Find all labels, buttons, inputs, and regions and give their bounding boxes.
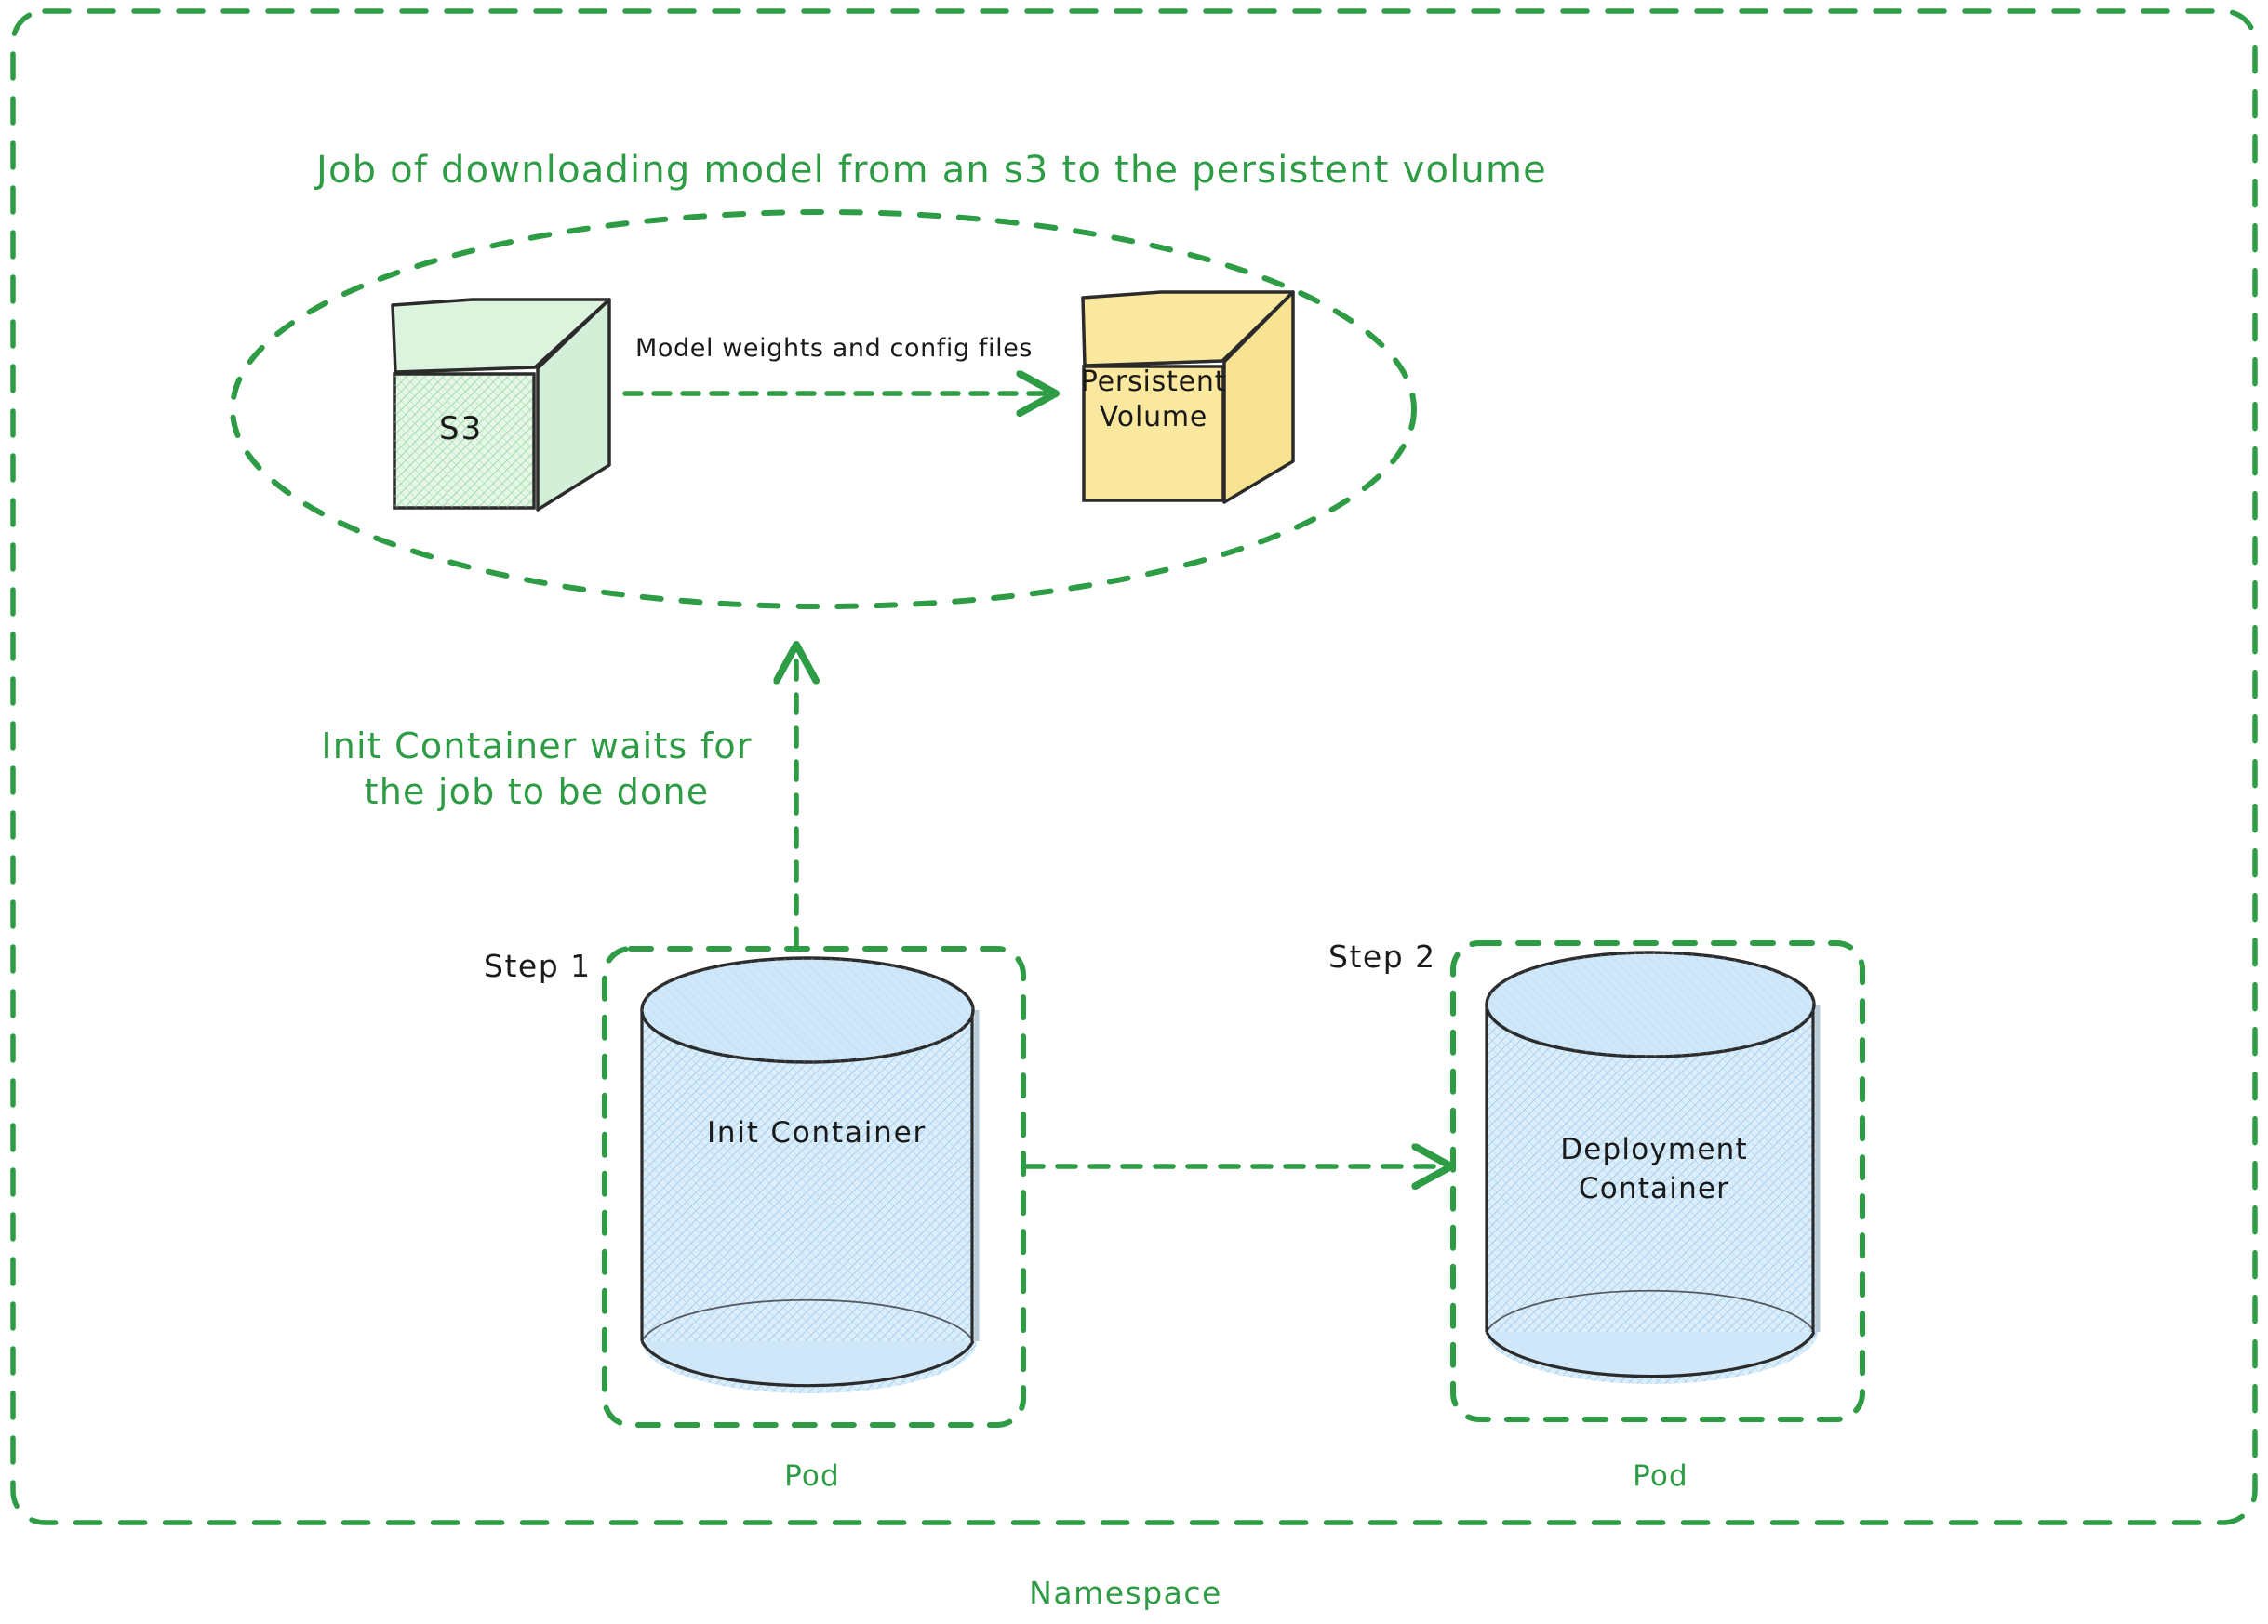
step-2-label: Step 2: [1328, 938, 1436, 977]
persistent-volume-label: PersistentVolume: [1079, 365, 1228, 436]
step-1-label: Step 1: [484, 947, 592, 986]
deployment-container-label-line2: Container: [1579, 1172, 1729, 1205]
deployment-container-label-line1: Deployment: [1560, 1133, 1748, 1166]
namespace-label: Namespace: [986, 1574, 1265, 1613]
diagram-canvas: Job of downloading model from an s3 to t…: [0, 0, 2268, 1624]
deployment-container-label: DeploymentContainer: [1477, 1131, 1831, 1208]
init-container-wait-label: Init Container waits forthe job to be do…: [290, 724, 783, 814]
pod-2-label: Pod: [1568, 1458, 1754, 1496]
model-weights-edge-label: Model weights and config files: [635, 333, 1033, 366]
init-container-cylinder[interactable]: [642, 958, 977, 1393]
s3-label: S3: [439, 409, 483, 450]
persistent-volume-label-line1: Persistent: [1081, 366, 1226, 398]
init-container-wait-label-line2: the job to be done: [365, 771, 710, 812]
init-container-label: Init Container: [631, 1115, 1003, 1152]
persistent-volume-label-line2: Volume: [1100, 401, 1207, 433]
job-group-title: Job of downloading model from an s3 to t…: [316, 147, 1547, 194]
pod-1-label: Pod: [719, 1458, 905, 1496]
s3-cube[interactable]: [393, 300, 609, 510]
init-container-wait-label-line1: Init Container waits for: [321, 725, 752, 766]
